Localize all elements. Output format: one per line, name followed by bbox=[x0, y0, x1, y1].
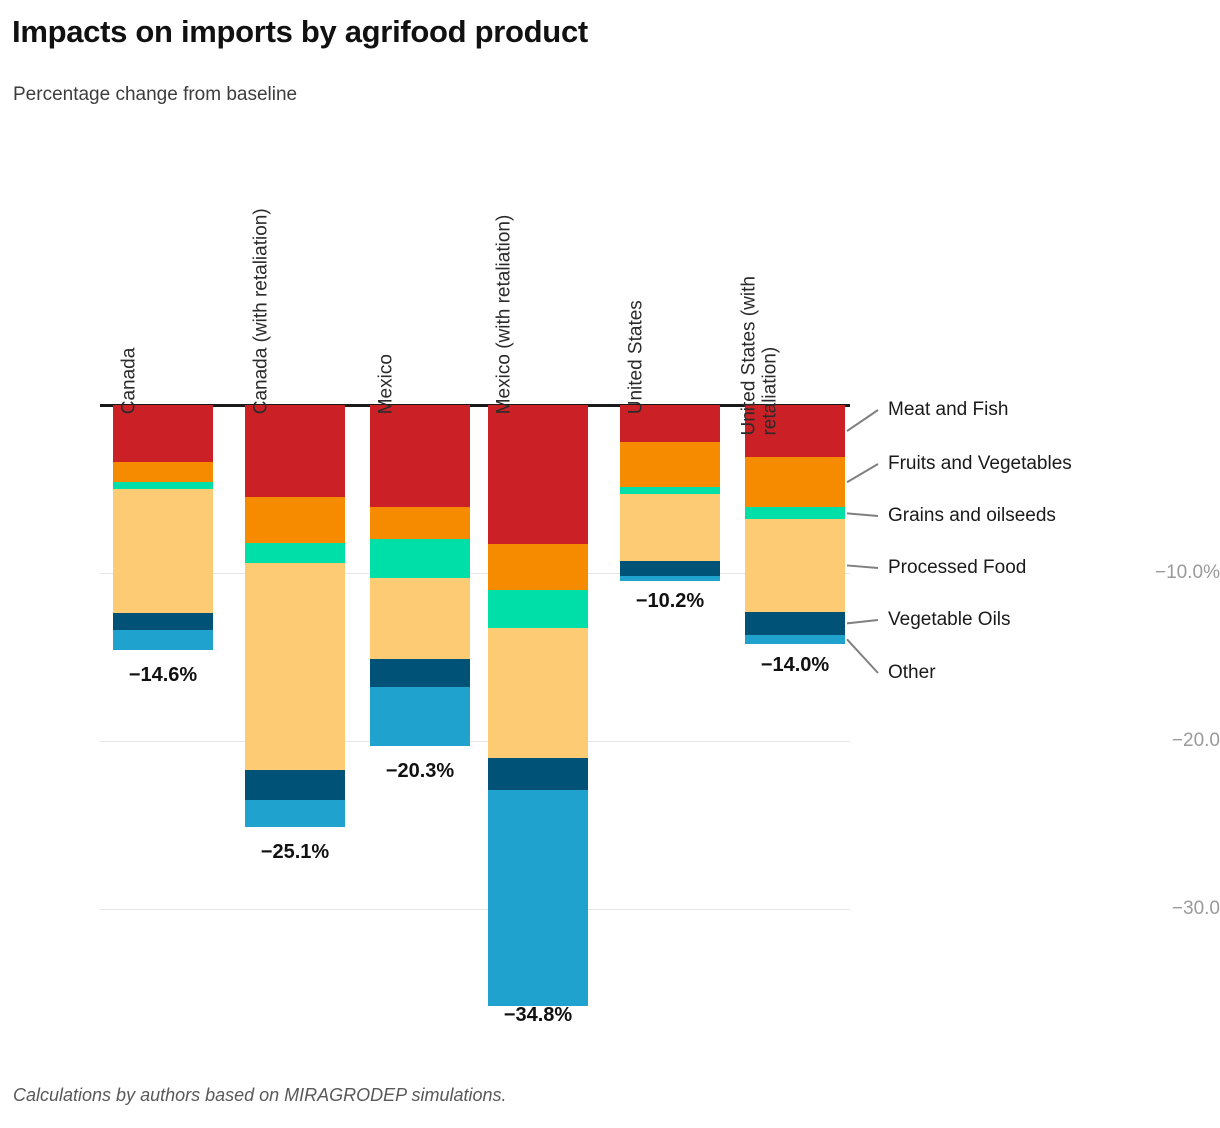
bar-segment[interactable] bbox=[113, 482, 213, 489]
bar-segment[interactable] bbox=[620, 494, 720, 561]
bar-total-label: −20.3% bbox=[340, 760, 500, 783]
bar-segment[interactable] bbox=[113, 630, 213, 650]
bar-total-label: −14.6% bbox=[83, 664, 243, 687]
bar-segment[interactable] bbox=[488, 544, 588, 589]
bar-segment[interactable] bbox=[370, 539, 470, 578]
x-axis-category-label: Mexico (with retaliation) bbox=[494, 215, 515, 415]
bar-total-label: −34.8% bbox=[458, 1004, 618, 1027]
bar-segment[interactable] bbox=[488, 405, 588, 544]
bar-segment[interactable] bbox=[370, 687, 470, 746]
bar-segment[interactable] bbox=[245, 497, 345, 542]
legend-item-label[interactable]: Processed Food bbox=[888, 557, 1026, 579]
legend-item-label[interactable]: Other bbox=[888, 662, 936, 684]
bar-segment[interactable] bbox=[113, 489, 213, 613]
legend-leader-line bbox=[847, 464, 878, 482]
bar-segment[interactable] bbox=[113, 462, 213, 482]
bar-total-label: −25.1% bbox=[215, 841, 375, 864]
y-axis-tick-label: −10.0% bbox=[1128, 562, 1220, 584]
bar-segment[interactable] bbox=[245, 543, 345, 563]
bar-segment[interactable] bbox=[370, 578, 470, 659]
bar-segment[interactable] bbox=[245, 770, 345, 800]
bar-segment[interactable] bbox=[245, 800, 345, 827]
bar-segment[interactable] bbox=[745, 519, 845, 611]
bar-segment[interactable] bbox=[245, 563, 345, 770]
bar-total-label: −14.0% bbox=[715, 654, 875, 677]
chart-plot-area: −10.0%−20.0−30.0 Canada−14.6%Canada (wit… bbox=[0, 0, 1220, 1128]
bar-segment[interactable] bbox=[745, 507, 845, 519]
bar-segment[interactable] bbox=[620, 442, 720, 487]
legend-item-label[interactable]: Meat and Fish bbox=[888, 399, 1008, 421]
legend-leader-line bbox=[847, 410, 878, 431]
x-axis-category-label: Canada (with retaliation) bbox=[251, 208, 272, 414]
y-axis-tick-label: −20.0 bbox=[1128, 730, 1220, 752]
chart-footnote: Calculations by authors based on MIRAGRO… bbox=[13, 1085, 507, 1106]
gridline bbox=[100, 741, 850, 742]
bar-segment[interactable] bbox=[620, 576, 720, 581]
bar-segment[interactable] bbox=[488, 758, 588, 790]
bar-segment[interactable] bbox=[488, 790, 588, 1007]
bar-segment[interactable] bbox=[245, 405, 345, 497]
x-axis-category-label: Canada bbox=[119, 348, 140, 415]
bar-segment[interactable] bbox=[620, 487, 720, 494]
x-axis-category-label: Mexico bbox=[376, 354, 397, 414]
bar-segment[interactable] bbox=[488, 628, 588, 757]
gridline bbox=[100, 909, 850, 910]
bar-segment[interactable] bbox=[745, 635, 845, 643]
bar-segment[interactable] bbox=[370, 405, 470, 507]
bar-segment[interactable] bbox=[745, 457, 845, 507]
legend-leader-line bbox=[847, 620, 878, 623]
bar-segment[interactable] bbox=[620, 561, 720, 576]
legend-item-label[interactable]: Vegetable Oils bbox=[888, 609, 1011, 631]
bar-segment[interactable] bbox=[745, 612, 845, 636]
bar-segment[interactable] bbox=[370, 659, 470, 688]
bar-segment[interactable] bbox=[113, 613, 213, 630]
legend-item-label[interactable]: Fruits and Vegetables bbox=[888, 453, 1072, 475]
legend-leader-line bbox=[847, 513, 878, 516]
x-axis-category-label: United States bbox=[626, 300, 647, 414]
legend-leader-line bbox=[847, 565, 878, 568]
legend-item-label[interactable]: Grains and oilseeds bbox=[888, 505, 1056, 527]
y-axis-tick-label: −30.0 bbox=[1128, 898, 1220, 920]
x-axis-category-label: United States (with retaliation) bbox=[738, 276, 781, 435]
bar-total-label: −10.2% bbox=[590, 590, 750, 613]
bar-segment[interactable] bbox=[488, 590, 588, 629]
bar-segment[interactable] bbox=[370, 507, 470, 539]
